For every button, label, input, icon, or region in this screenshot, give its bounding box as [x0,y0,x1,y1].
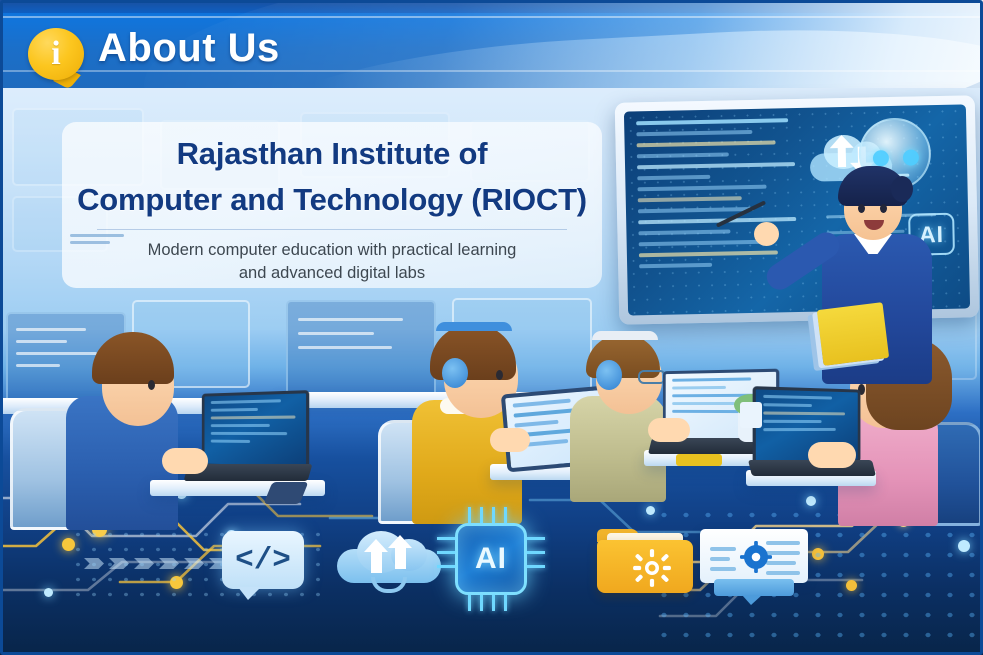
smartboard-code-lines [636,118,804,275]
student-hand [808,442,856,468]
gear-icon [631,547,673,589]
teacher-eye [880,204,887,213]
teacher-books [817,302,889,366]
student-hand [162,448,208,474]
teacher-hand [754,222,779,246]
desk-notebook [676,454,722,466]
page-subtitle-line1: Modern computer education with practical… [62,230,602,262]
page-title-line1: Rajasthan Institute of [62,128,602,174]
subtitle-decoration [70,234,124,248]
cloud-upload-icon[interactable] [337,529,441,591]
student-phone [264,482,309,504]
monitor-gear-icon[interactable] [700,529,808,591]
header-hairline [0,16,983,18]
student-eye [496,370,503,380]
teacher-figure [810,160,980,380]
teacher-eye [858,204,865,213]
page-subtitle-line2: and advanced digital labs [62,262,602,285]
student-hand [490,428,530,452]
student-hand [648,418,690,442]
about-us-banner: AI [0,0,983,655]
title-card: Rajasthan Institute of Computer and Tech… [62,122,602,288]
student-hair [92,332,174,384]
page-title-line2: Computer and Technology (RIOCT) [62,174,602,220]
gear-icon [740,541,772,573]
info-icon[interactable]: i [28,28,84,80]
teacher-hair [838,166,908,206]
student-eye [148,380,155,390]
feature-icon-strip: </> AI [0,505,983,620]
header-title: About Us [98,26,280,71]
desk-plant [740,402,762,428]
folder-gear-icon[interactable] [597,529,693,593]
student-boy-laptop [10,330,320,530]
ai-chip-icon[interactable]: AI [455,523,527,595]
student-laptop [192,392,312,487]
info-icon-glyph: i [28,28,84,80]
code-bubble-icon[interactable]: </> [222,531,304,589]
